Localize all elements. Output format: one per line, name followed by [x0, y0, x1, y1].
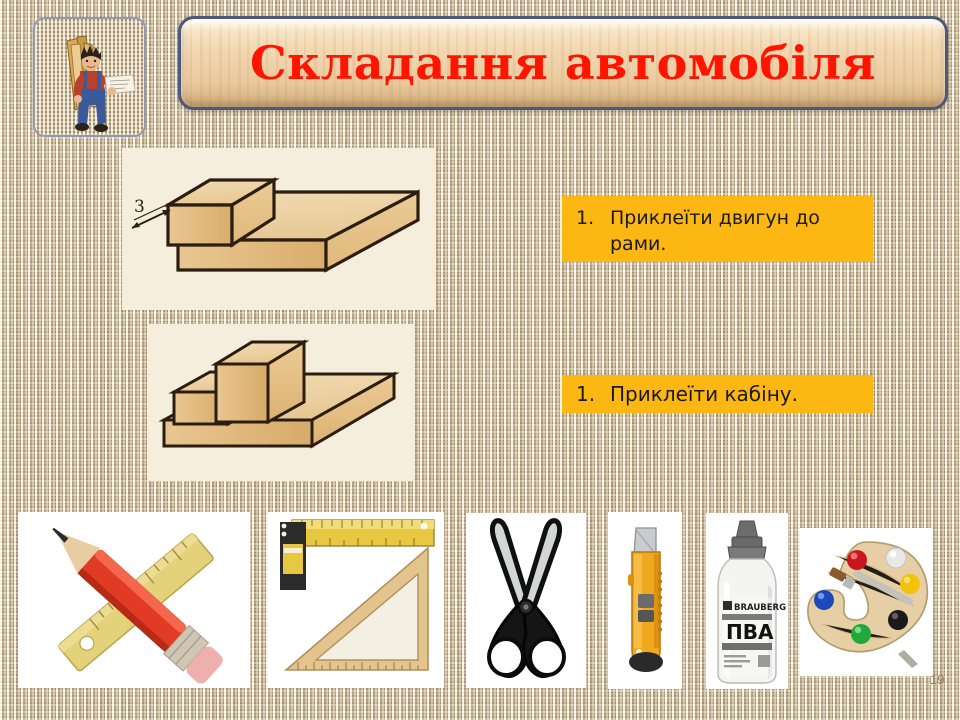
scissors-icon: [466, 513, 586, 688]
set-square-ruler-icon: [268, 512, 444, 688]
boy-with-planks-picture: [33, 17, 146, 137]
slide-number: 19: [930, 672, 944, 687]
slide-canvas: Складання автомобіля: [0, 0, 960, 720]
ruler-pencil-icon: [18, 512, 250, 688]
page-title: Складання автомобіля: [250, 36, 876, 90]
step-2-illustration: [148, 324, 415, 481]
step-2-text-box: 1. Приклеїти кабіну.: [562, 375, 873, 413]
utility-knife-icon: [608, 512, 682, 689]
glue-bottle-icon: BRAUBERG ПВА: [706, 513, 788, 689]
step-1-text: Приклеїти двигун до рами.: [610, 205, 861, 257]
step-1-number: 1.: [576, 205, 610, 231]
step-1-illustration: 3: [122, 148, 436, 310]
boy-illustration: [35, 19, 146, 137]
step-2-number: 1.: [576, 381, 610, 409]
glue-brand-label: BRAUBERG: [734, 603, 786, 613]
title-banner: Складання автомобіля: [178, 16, 948, 110]
step-1-text-box: 1. Приклеїти двигун до рами.: [562, 196, 873, 262]
isometric-frame-with-engine-and-cabin: [148, 324, 415, 481]
dimension-label: 3: [134, 197, 145, 217]
glue-product-label: ПВА: [726, 620, 774, 644]
paint-palette-icon: [800, 528, 933, 676]
isometric-frame-with-engine-block: 3: [122, 148, 436, 310]
step-2-text: Приклеїти кабіну.: [610, 381, 861, 409]
